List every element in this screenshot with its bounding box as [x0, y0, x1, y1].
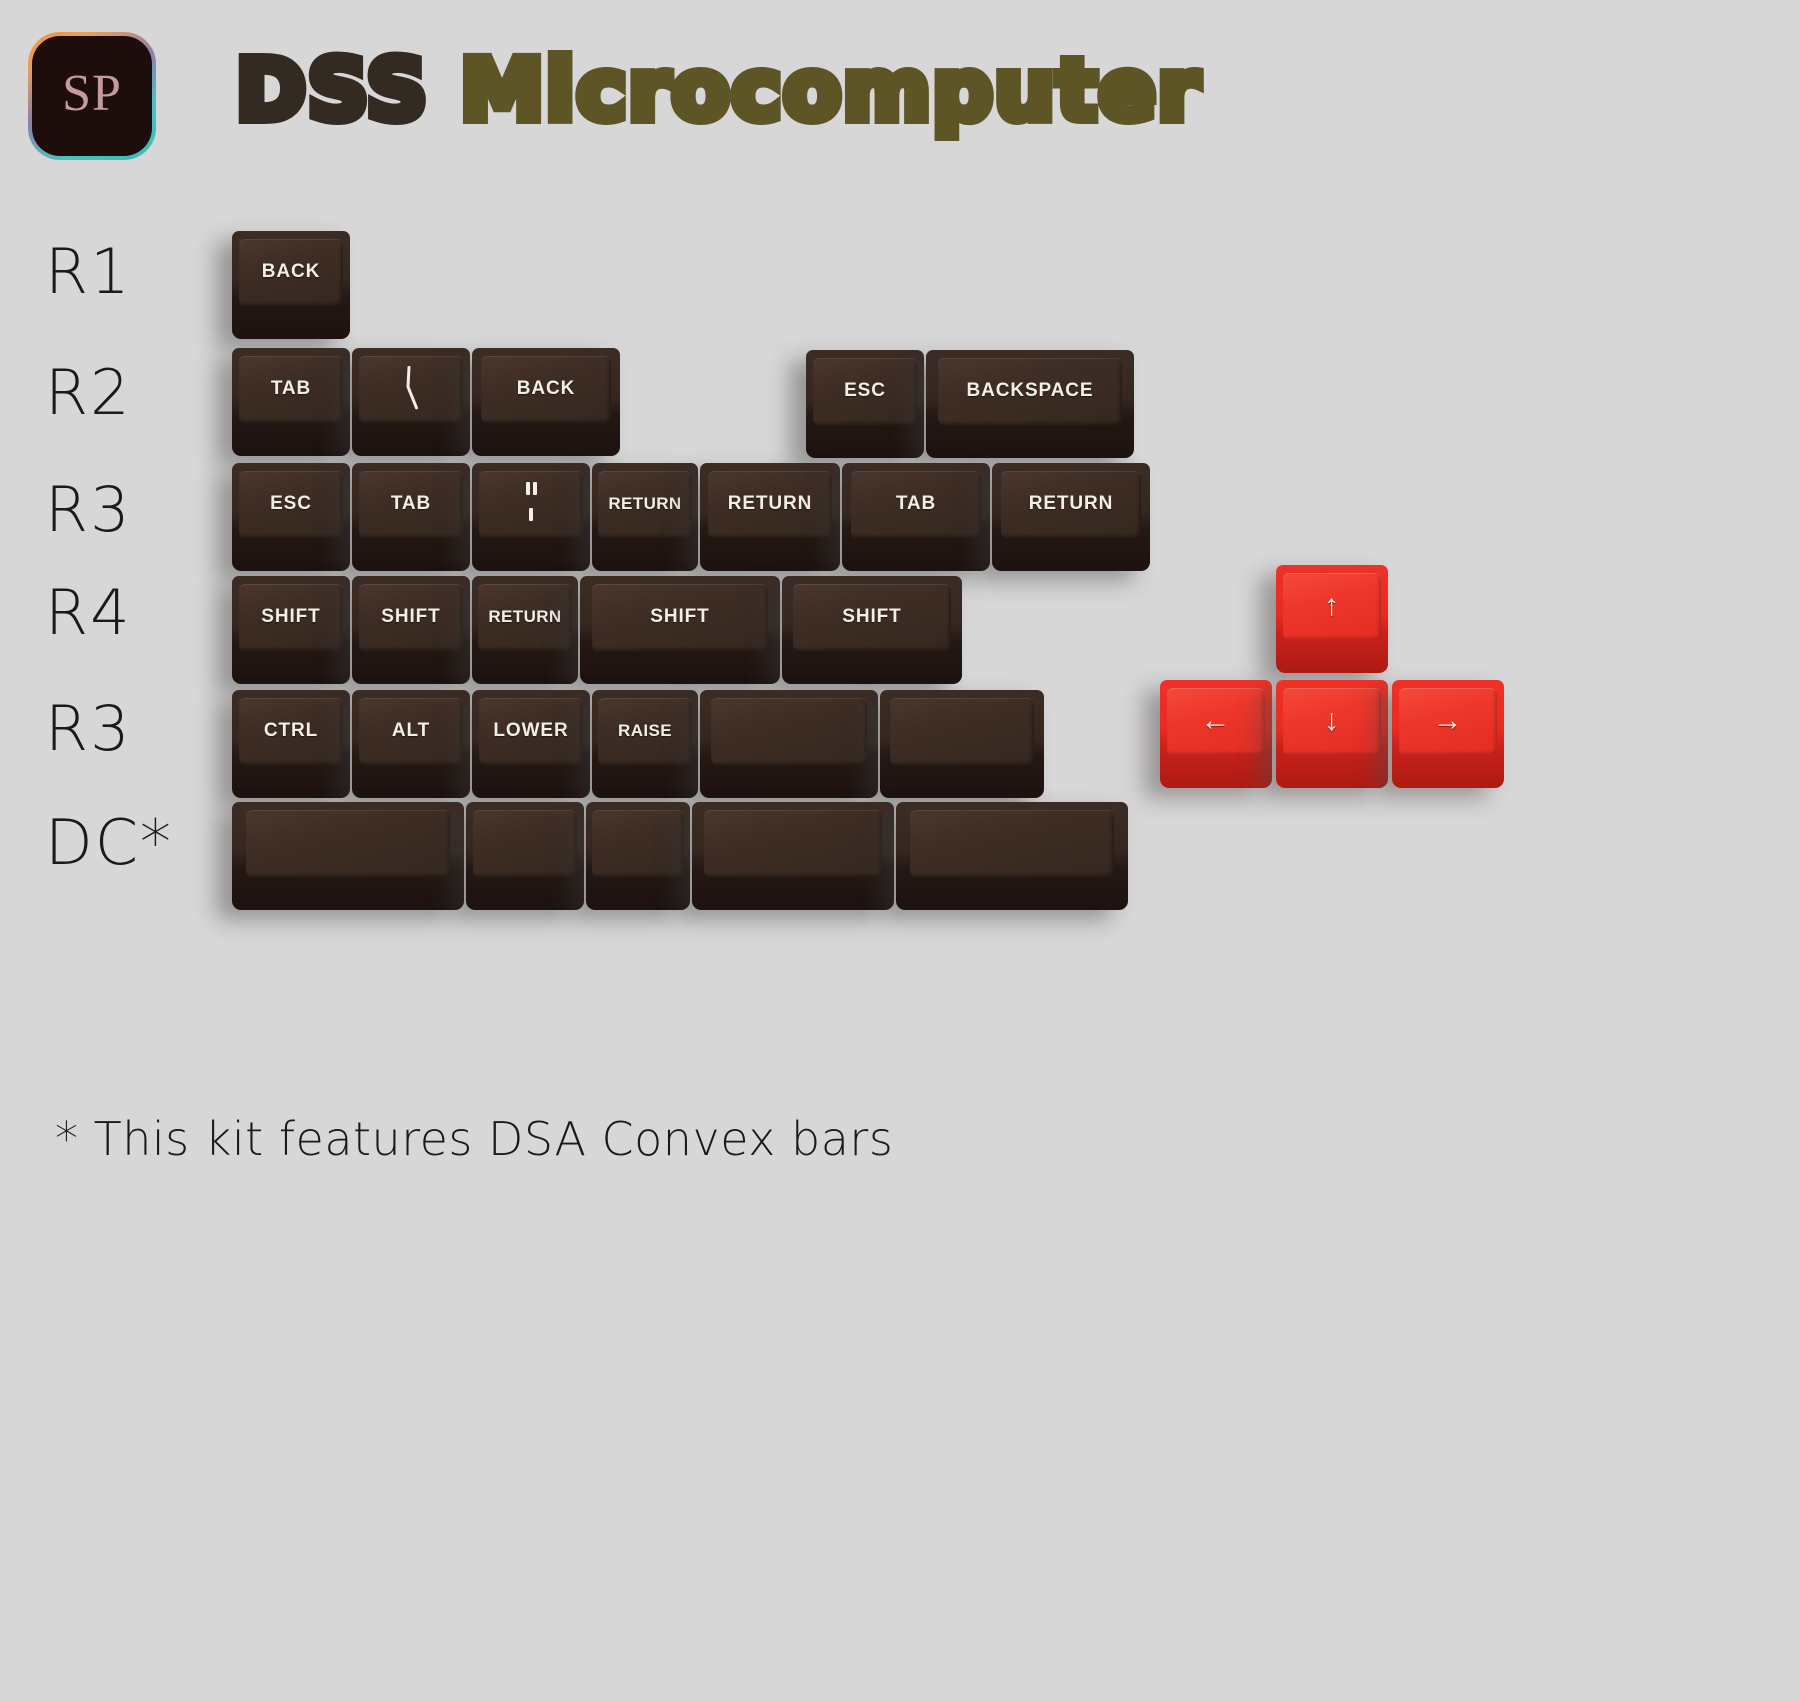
sp-logo: SP	[28, 32, 156, 160]
keycap-top: BACKSPACE	[938, 358, 1121, 425]
arrow-up-icon: ↑	[1324, 589, 1340, 623]
keycap-legend: LOWER	[493, 720, 568, 742]
title-primary: DSS	[236, 41, 429, 139]
keycap-r4-shift-1[interactable]: SHIFT	[232, 576, 350, 684]
keycap-r3a-return-2[interactable]: RETURN	[700, 463, 840, 571]
row-label-r2: R2	[45, 362, 132, 424]
keycap-top	[246, 810, 450, 877]
keycap-arrow-right[interactable]: →	[1392, 680, 1504, 788]
keycap-top	[890, 698, 1034, 765]
keycap-r3a-return-3[interactable]: RETURN	[992, 463, 1150, 571]
keycap-legend: SHIFT	[381, 606, 440, 628]
keycap-top: →	[1399, 688, 1498, 755]
keycap-top: ↓	[1283, 688, 1382, 755]
keycap-top: SHIFT	[592, 584, 768, 651]
keycap-top: ←	[1167, 688, 1266, 755]
keycap-r2-tab[interactable]: TAB	[232, 348, 350, 456]
keycap-legend: BACK	[517, 378, 576, 400]
keycap-top: SHIFT	[239, 584, 343, 651]
pipe-backslash-icon	[398, 366, 424, 412]
keycap-top: RETURN	[478, 584, 571, 651]
keycap-r3a-esc[interactable]: ESC	[232, 463, 350, 571]
keycap-top: TAB	[359, 471, 463, 538]
keycap-r3b-blank-2[interactable]	[880, 690, 1044, 798]
keycap-top	[592, 810, 684, 877]
keycap-legend: RETURN	[488, 607, 561, 627]
keycap-r2-esc[interactable]: ESC	[806, 350, 924, 458]
keycap-dc-bar-5[interactable]	[896, 802, 1128, 910]
keycap-top: SHIFT	[793, 584, 951, 651]
keycap-r4-shift-4[interactable]: SHIFT	[782, 576, 962, 684]
row-label-dc: DC*	[45, 812, 173, 874]
keycap-r3b-lower[interactable]: LOWER	[472, 690, 590, 798]
arrow-down-icon: ↓	[1324, 704, 1340, 738]
keycap-arrow-left[interactable]: ←	[1160, 680, 1272, 788]
keycap-r1-back[interactable]: BACK	[232, 231, 350, 339]
keycap-top: RETURN	[1001, 471, 1140, 538]
arrow-right-icon: →	[1433, 704, 1464, 738]
keycap-top	[711, 698, 868, 765]
keycap-r3b-alt[interactable]: ALT	[352, 690, 470, 798]
keycap-legend: RETURN	[608, 494, 681, 514]
keycap-top	[359, 356, 463, 423]
quote-apostrophe-icon	[519, 482, 543, 526]
row-label-r1: R1	[45, 241, 132, 303]
keycap-r4-shift-3[interactable]: SHIFT	[580, 576, 780, 684]
arrow-left-icon: ←	[1201, 704, 1232, 738]
row-label-r3-bottom: R3	[45, 698, 132, 760]
logo-inner: SP	[32, 36, 152, 156]
keycap-r3a-quote[interactable]	[472, 463, 590, 571]
keycap-dc-bar-2[interactable]	[466, 802, 584, 910]
keycap-arrow-up[interactable]: ↑	[1276, 565, 1388, 673]
keycap-r2-pipe-backslash[interactable]	[352, 348, 470, 456]
title-secondary: Microcomputer	[460, 41, 1201, 139]
keycap-top	[473, 810, 577, 877]
keycap-top: BACK	[239, 239, 343, 306]
row-label-r3-top: R3	[45, 479, 132, 541]
keycap-top: ESC	[813, 358, 917, 425]
keycap-legend: ESC	[270, 493, 312, 515]
keycap-legend: RETURN	[728, 493, 813, 515]
page-header: SP DSS Microcomputer	[28, 32, 1201, 160]
keycap-top: TAB	[239, 356, 343, 423]
keycap-r4-return[interactable]: RETURN	[472, 576, 578, 684]
row-label-r4: R4	[45, 582, 132, 644]
keycap-r3a-tab[interactable]: TAB	[352, 463, 470, 571]
keycap-dc-bar-4[interactable]	[692, 802, 894, 910]
keycap-top	[910, 810, 1114, 877]
keycap-r3b-blank-1[interactable]	[700, 690, 878, 798]
keycap-r3a-return-1[interactable]: RETURN	[592, 463, 698, 571]
keycap-r3a-tab-2[interactable]: TAB	[842, 463, 990, 571]
keycap-legend: TAB	[271, 378, 311, 400]
keycap-legend: SHIFT	[650, 606, 709, 628]
keycap-r3b-raise[interactable]: RAISE	[592, 690, 698, 798]
keycap-top: BACK	[481, 356, 611, 423]
keycap-r2-back[interactable]: BACK	[472, 348, 620, 456]
keycap-legend: ALT	[392, 720, 430, 742]
keycap-arrow-down[interactable]: ↓	[1276, 680, 1388, 788]
keycap-legend: SHIFT	[842, 606, 901, 628]
keycap-top: RAISE	[598, 698, 691, 765]
keycap-top: SHIFT	[359, 584, 463, 651]
keycap-top	[479, 471, 583, 538]
keycap-top: RETURN	[598, 471, 691, 538]
keycap-top: ↑	[1283, 573, 1382, 640]
keycap-top: TAB	[851, 471, 981, 538]
keycap-r3b-ctrl[interactable]: CTRL	[232, 690, 350, 798]
keycap-top: CTRL	[239, 698, 343, 765]
keycap-top: ALT	[359, 698, 463, 765]
keycap-legend: SHIFT	[261, 606, 320, 628]
page-title: DSS Microcomputer	[236, 41, 1201, 139]
keycap-legend: TAB	[391, 493, 431, 515]
keycap-top: RETURN	[708, 471, 831, 538]
keycap-legend: TAB	[896, 493, 936, 515]
keycap-r2-backspace[interactable]: BACKSPACE	[926, 350, 1134, 458]
keycap-top: LOWER	[479, 698, 583, 765]
keycap-dc-bar-3[interactable]	[586, 802, 690, 910]
keycap-legend: BACKSPACE	[966, 380, 1093, 402]
keycap-legend: BACK	[262, 261, 321, 283]
keycap-r4-shift-2[interactable]: SHIFT	[352, 576, 470, 684]
logo-text: SP	[62, 68, 122, 120]
keycap-legend: CTRL	[264, 720, 318, 742]
keycap-dc-bar-1[interactable]	[232, 802, 464, 910]
keycap-legend: RETURN	[1029, 493, 1114, 515]
keycap-legend: RAISE	[618, 721, 672, 741]
footnote-text: * This kit features DSA Convex bars	[55, 1112, 893, 1166]
keycap-top	[704, 810, 882, 877]
keycap-legend: ESC	[844, 380, 886, 402]
keycap-top: ESC	[239, 471, 343, 538]
